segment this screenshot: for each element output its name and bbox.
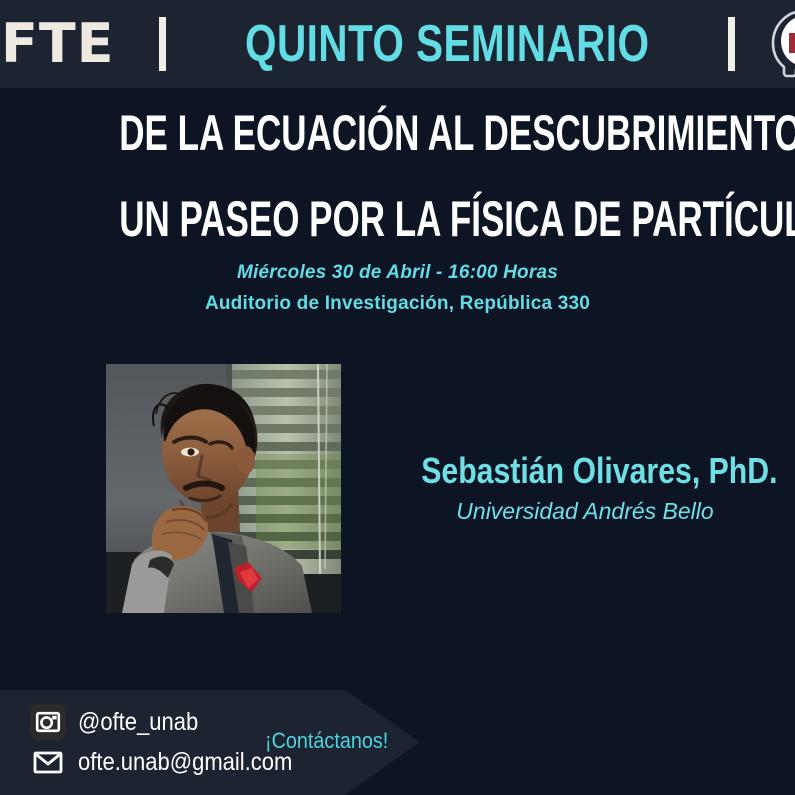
speaker-affiliation: Universidad Andrés Bello bbox=[390, 498, 780, 525]
email-address: ofte.unab@gmail.com bbox=[78, 748, 292, 777]
header-divider-left bbox=[159, 17, 166, 71]
speaker-name: Sebastián Olivares, PhD. bbox=[421, 452, 749, 490]
speaker-photo bbox=[106, 364, 341, 613]
poster-header: OFTE QUINTO SEMINARIO bbox=[0, 0, 795, 88]
email-icon bbox=[30, 744, 66, 780]
ofte-institution-logo-icon bbox=[767, 7, 795, 81]
event-details: Miércoles 30 de Abril - 16:00 Horas Audi… bbox=[0, 262, 795, 315]
poster-title: DE LA ECUACIÓN AL DESCUBRIMIENTO: UN PAS… bbox=[0, 108, 795, 280]
header-divider-right bbox=[728, 17, 735, 71]
instagram-icon bbox=[30, 704, 66, 740]
seminar-edition-label: QUINTO SEMINARIO bbox=[245, 18, 649, 70]
contact-cta-label: ¡Contáctanos! bbox=[265, 728, 388, 754]
title-line-1: DE LA ECUACIÓN AL DESCUBRIMIENTO: bbox=[119, 108, 676, 158]
event-datetime: Miércoles 30 de Abril - 16:00 Horas bbox=[0, 262, 795, 284]
event-location: Auditorio de Investigación, República 33… bbox=[0, 293, 795, 315]
speaker-info: Sebastián Olivares, PhD. Universidad And… bbox=[390, 452, 780, 525]
title-line-2: UN PASEO POR LA FÍSICA DE PARTÍCULAS bbox=[119, 194, 676, 244]
brand-name: OFTE bbox=[0, 17, 115, 71]
seminar-poster: OFTE QUINTO SEMINARIO DE LA ECUACIÓN AL … bbox=[0, 0, 795, 795]
speaker-portrait-image bbox=[106, 364, 341, 613]
instagram-handle: @ofte_unab bbox=[78, 708, 198, 737]
